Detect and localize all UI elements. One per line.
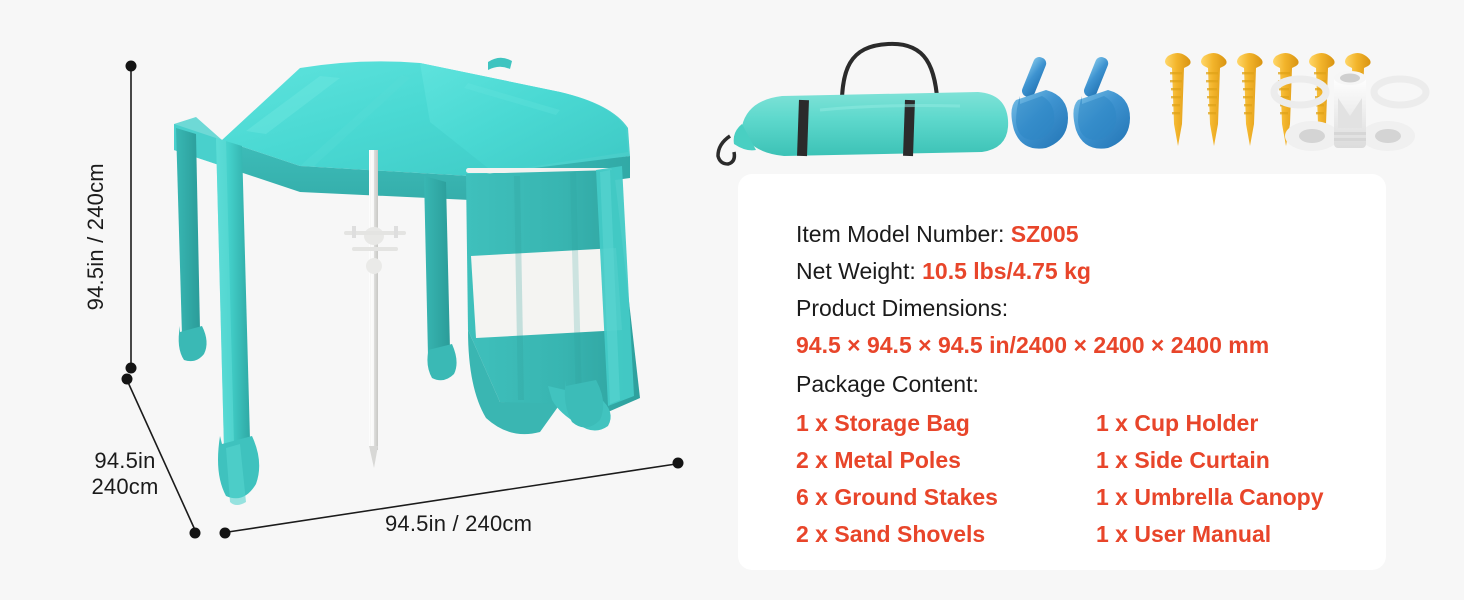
ground-stake bbox=[1201, 53, 1227, 146]
spec-value-model: SZ005 bbox=[1011, 221, 1079, 247]
spec-label-dimensions: Product Dimensions: bbox=[796, 290, 1324, 327]
package-content-list: 1 x Storage Bag 1 x Cup Holder 2 x Metal… bbox=[796, 405, 1324, 553]
dimension-label-height: 94.5in / 240cm bbox=[83, 117, 109, 357]
dimension-label-width: 94.5in / 240cm bbox=[385, 511, 532, 537]
canopy-leg-front-left bbox=[216, 138, 259, 505]
ground-stake bbox=[1165, 53, 1191, 146]
product-infographic: 94.5in / 240cm 94.5in 240cm 94.5in / 240… bbox=[0, 0, 1464, 600]
package-item: 2 x Metal Poles bbox=[796, 442, 1096, 479]
center-umbrella-pole bbox=[344, 150, 406, 468]
accessory-sand-shovel bbox=[1011, 55, 1068, 148]
dimension-label-depth: 94.5in 240cm bbox=[70, 448, 180, 499]
accessories-svg bbox=[700, 18, 1460, 168]
package-item: 1 x Side Curtain bbox=[1096, 442, 1324, 479]
package-content-heading: Package Content: bbox=[796, 366, 1324, 403]
spec-info-card: Item Model Number: SZ005 Net Weight: 10.… bbox=[738, 174, 1386, 570]
package-item: 6 x Ground Stakes bbox=[796, 479, 1096, 516]
package-item: 1 x Cup Holder bbox=[1096, 405, 1324, 442]
package-item: 1 x User Manual bbox=[1096, 516, 1324, 553]
accessories-row bbox=[700, 18, 1460, 168]
dimension-label-depth-inches: 94.5in bbox=[70, 448, 180, 474]
product-illustration-panel: 94.5in / 240cm 94.5in 240cm 94.5in / 240… bbox=[0, 0, 710, 600]
pole-cup-holder bbox=[344, 226, 406, 274]
dimension-label-depth-cm: 240cm bbox=[70, 474, 180, 500]
spec-row-weight: Net Weight: 10.5 lbs/4.75 kg bbox=[796, 253, 1324, 290]
spec-row-model: Item Model Number: SZ005 bbox=[796, 216, 1324, 253]
package-item: 2 x Sand Shovels bbox=[796, 516, 1096, 553]
accessory-sand-shovel bbox=[1073, 55, 1130, 148]
accessory-cup-holder bbox=[1274, 71, 1426, 151]
spec-label-weight: Net Weight: bbox=[796, 258, 916, 284]
spec-list: Item Model Number: SZ005 Net Weight: 10.… bbox=[796, 216, 1324, 553]
spec-value-dimensions: 94.5 × 94.5 × 94.5 in/2400 × 2400 × 2400… bbox=[796, 327, 1324, 364]
accessory-storage-bag bbox=[718, 44, 1008, 164]
package-item: 1 x Storage Bag bbox=[796, 405, 1096, 442]
spec-value-weight: 10.5 lbs/4.75 kg bbox=[922, 258, 1091, 284]
canopy-leg-back-right bbox=[424, 176, 457, 380]
package-item: 1 x Umbrella Canopy bbox=[1096, 479, 1324, 516]
ground-stake bbox=[1237, 53, 1263, 146]
canopy-leg-back-left bbox=[176, 128, 207, 361]
spec-label-model: Item Model Number: bbox=[796, 221, 1004, 247]
